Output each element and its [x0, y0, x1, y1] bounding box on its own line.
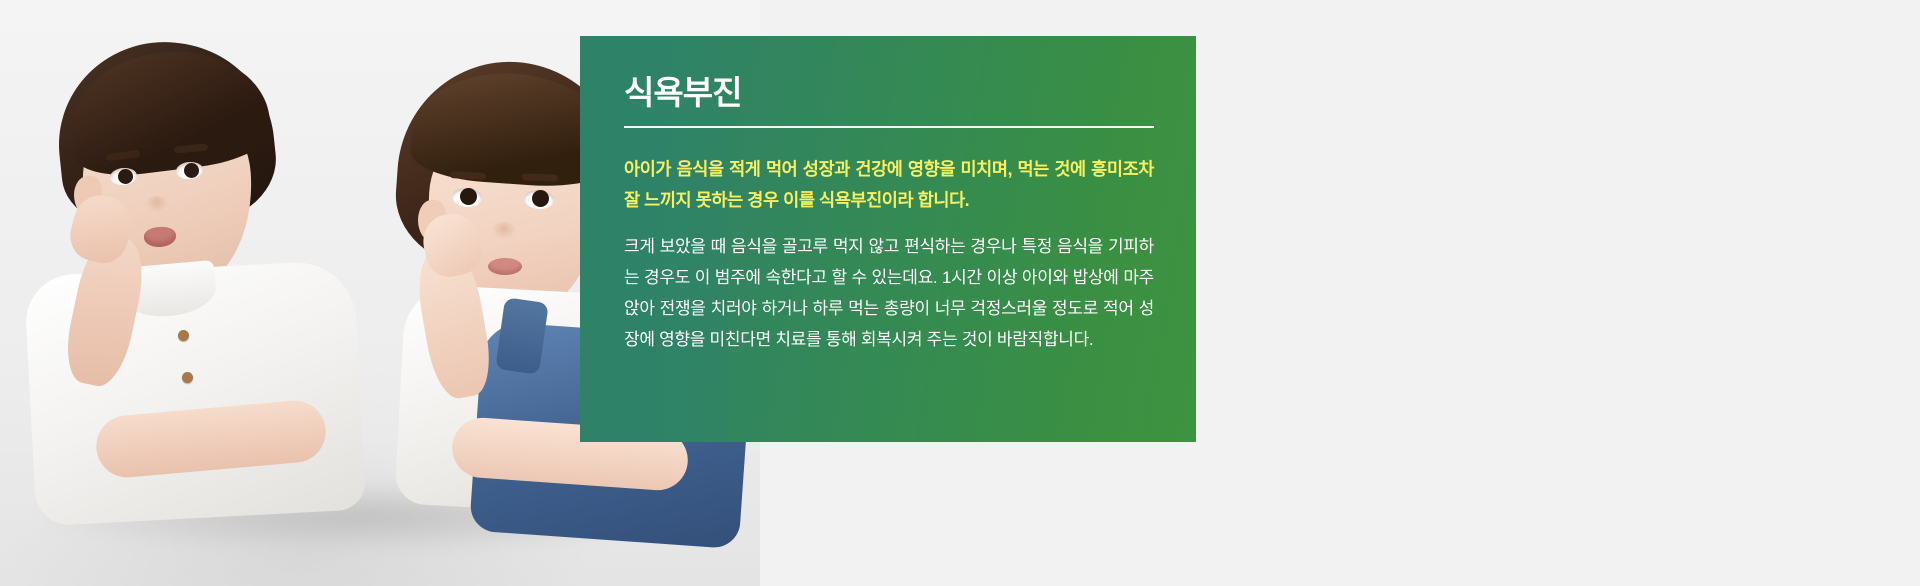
banner-root: 식욕부진 아이가 음식을 적게 먹어 성장과 건강에 영향을 미치며, 먹는 것…	[0, 0, 1920, 586]
info-panel: 식욕부진 아이가 음식을 적게 먹어 성장과 건강에 영향을 미치며, 먹는 것…	[580, 36, 1196, 442]
title-divider	[624, 126, 1154, 128]
boy-pupil-left	[118, 169, 133, 184]
girl-mouth	[488, 258, 522, 275]
boy-shirt-button	[182, 372, 193, 383]
lead-paragraph: 아이가 음식을 적게 먹어 성장과 건강에 영향을 미치며, 먹는 것에 흥미조…	[624, 154, 1154, 216]
boy-shirt-button	[178, 330, 189, 341]
girl-nose	[492, 222, 516, 239]
body-paragraph: 크게 보았을 때 음식을 골고루 먹지 않고 편식하는 경우나 특정 음식을 기…	[624, 232, 1154, 356]
girl-pupil-right	[532, 190, 549, 207]
page-title: 식욕부진	[624, 74, 1154, 112]
girl-eyebrow-right	[522, 173, 558, 181]
boy-pupil-right	[184, 163, 199, 178]
boy-nose	[146, 196, 168, 212]
girl-pupil-left	[460, 188, 477, 205]
